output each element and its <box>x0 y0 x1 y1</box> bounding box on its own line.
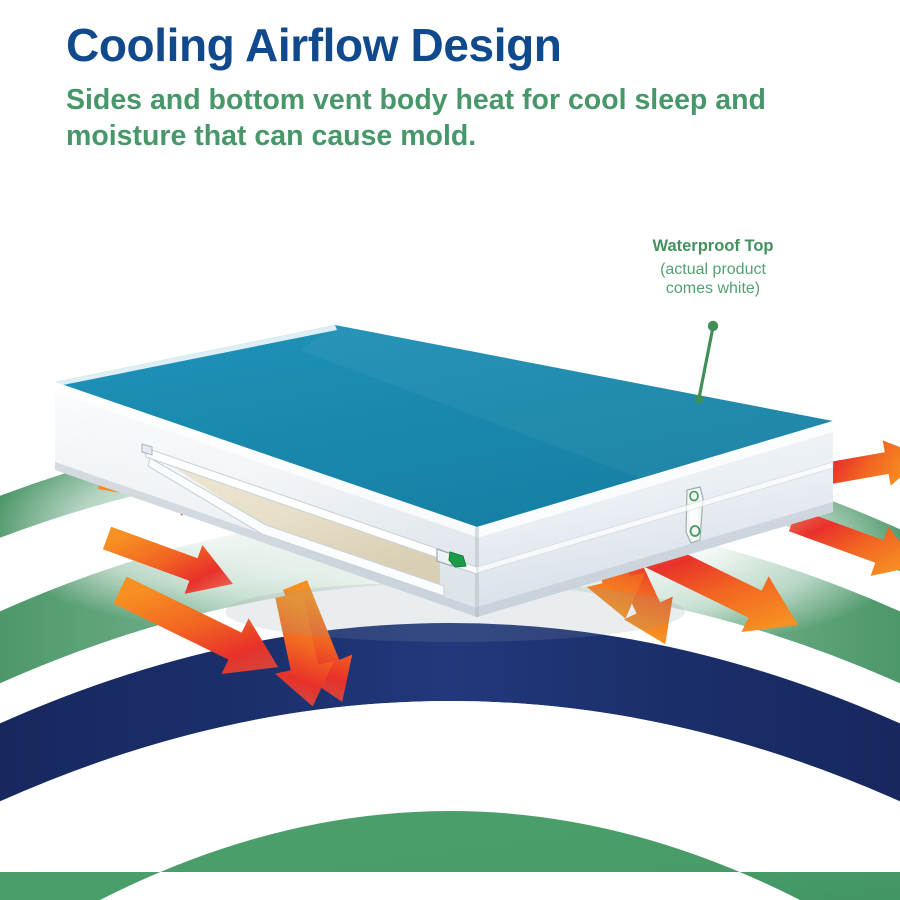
callout-note: (actual product comes white) <box>593 260 833 299</box>
infographic-canvas: Cooling Airflow Design Sides and bottom … <box>0 0 900 900</box>
callout-note-line2: comes white) <box>666 280 760 297</box>
zipper-pull-right-side[interactable] <box>686 487 703 543</box>
page-title: Cooling Airflow Design <box>66 22 856 68</box>
waterproof-top-callout: Waterproof Top (actual product comes whi… <box>593 236 833 299</box>
page-subtitle: Sides and bottom vent body heat for cool… <box>66 82 806 155</box>
callout-note-line1: (actual product <box>660 261 766 278</box>
callout-label: Waterproof Top <box>593 236 833 257</box>
headline-block: Cooling Airflow Design Sides and bottom … <box>66 22 856 155</box>
